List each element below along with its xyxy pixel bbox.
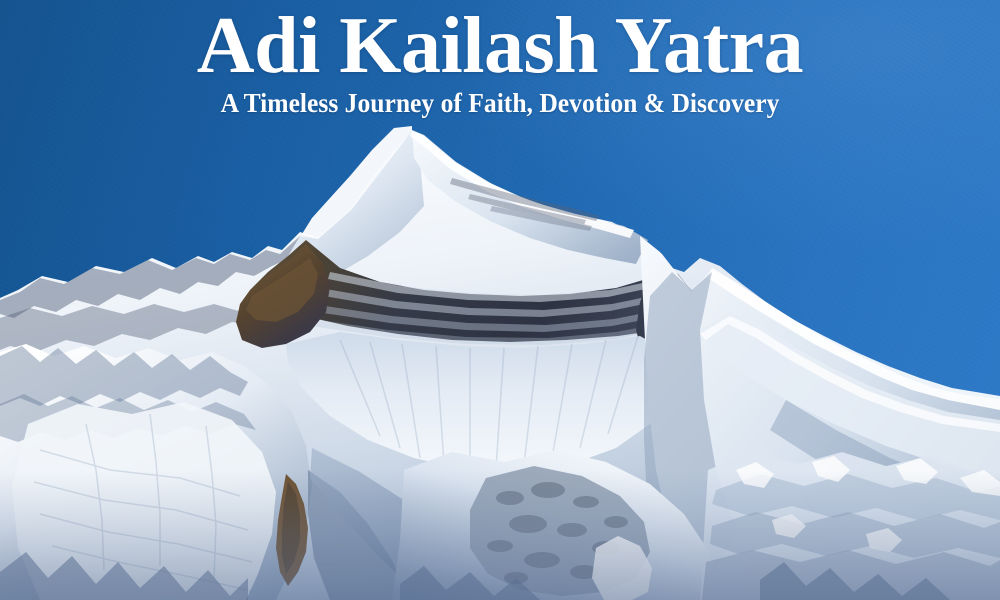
- title-block: Adi Kailash Yatra A Timeless Journey of …: [0, 8, 1000, 117]
- poster-hero-banner: Adi Kailash Yatra A Timeless Journey of …: [0, 0, 1000, 600]
- page-title: Adi Kailash Yatra: [0, 8, 1000, 84]
- page-subtitle: A Timeless Journey of Faith, Devotion & …: [35, 89, 965, 117]
